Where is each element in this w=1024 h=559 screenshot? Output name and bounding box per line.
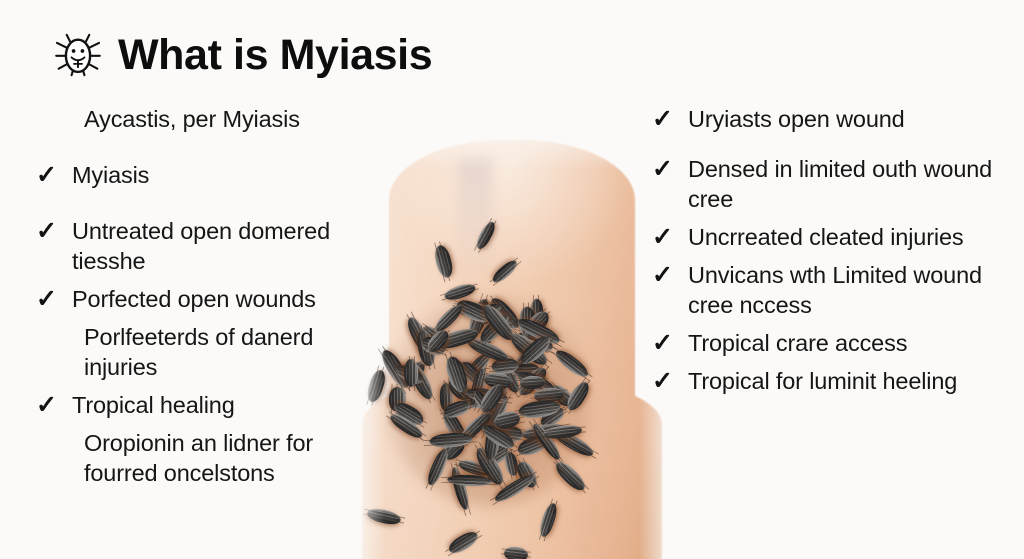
- larva: [449, 466, 472, 512]
- list-item: ✓Porlfeeterds of danerd injuries: [36, 322, 352, 382]
- list-item-label: Porfected open wounds: [72, 284, 316, 314]
- myiasis-infographic: What is Myiasis ✓Aycastis, per Myiasis✓M…: [0, 0, 1024, 559]
- larva: [446, 529, 481, 557]
- bug-icon: [52, 30, 104, 80]
- checkmark-icon: ✓: [36, 284, 58, 314]
- bullet-column-left: ✓Aycastis, per Myiasis✓Myiasis✓Untreated…: [36, 104, 352, 501]
- list-item: ✓Unvicans wth Limited wound cree nccess: [652, 260, 1002, 320]
- list-item: ✓Uryiasts open wound: [652, 104, 1002, 134]
- larva: [366, 506, 402, 526]
- list-item-label: Tropical for luminit heeling: [688, 366, 957, 396]
- larva: [433, 243, 456, 279]
- checkmark-icon: ✓: [36, 160, 58, 190]
- list-item: ✓Aycastis, per Myiasis: [36, 104, 352, 134]
- checkmark-icon: ✓: [652, 260, 674, 290]
- page-title: What is Myiasis: [118, 34, 432, 77]
- list-item-label: Porlfeeterds of danerd injuries: [72, 322, 352, 382]
- larva: [503, 545, 529, 559]
- larvae-group: [340, 96, 684, 559]
- page-header: What is Myiasis: [52, 24, 432, 86]
- checkmark-icon: ✓: [652, 104, 674, 134]
- larva: [537, 502, 559, 539]
- list-item-label: Unvicans wth Limited wound cree nccess: [688, 260, 1002, 320]
- bullet-column-right: ✓Uryiasts open wound✓Densed in limited o…: [652, 104, 1002, 409]
- list-item: ✓Porfected open wounds: [36, 284, 352, 314]
- list-item-label: Densed in limited outh wound cree: [688, 154, 1002, 214]
- list-item-label: Myiasis: [72, 160, 149, 190]
- checkmark-icon: ✓: [36, 216, 58, 246]
- list-item: ✓Uncrreated cleated injuries: [652, 222, 1002, 252]
- list-item: ✓Oropionin an lidner for fourred oncelst…: [36, 428, 352, 488]
- forearm-with-larvae-photo: [340, 96, 684, 559]
- list-item: ✓Myiasis: [36, 160, 352, 190]
- list-item: ✓Untreated open domered tiesshe: [36, 216, 352, 276]
- checkmark-icon: ✓: [652, 154, 674, 184]
- checkmark-icon: ✓: [652, 222, 674, 252]
- larva: [364, 368, 387, 404]
- larva: [474, 220, 498, 251]
- list-item-label: Uryiasts open wound: [688, 104, 905, 134]
- list-item: ✓Tropical for luminit heeling: [652, 366, 1002, 396]
- larva: [552, 458, 588, 494]
- list-item-label: Untreated open domered tiesshe: [72, 216, 352, 276]
- checkmark-icon: ✓: [652, 366, 674, 396]
- list-item-label: Tropical crare access: [688, 328, 907, 358]
- list-item-label: Uncrreated cleated injuries: [688, 222, 963, 252]
- list-item: ✓Tropical crare access: [652, 328, 1002, 358]
- larva: [490, 258, 520, 286]
- checkmark-icon: ✓: [652, 328, 674, 358]
- larva: [552, 347, 591, 381]
- checkmark-icon: ✓: [36, 390, 58, 420]
- list-item: ✓Densed in limited outh wound cree: [652, 154, 1002, 214]
- list-item-label: Aycastis, per Myiasis: [72, 104, 300, 134]
- list-item-label: Oropionin an lidner for fourred oncelsto…: [72, 428, 352, 488]
- list-item: ✓Tropical healing: [36, 390, 352, 420]
- list-item-label: Tropical healing: [72, 390, 235, 420]
